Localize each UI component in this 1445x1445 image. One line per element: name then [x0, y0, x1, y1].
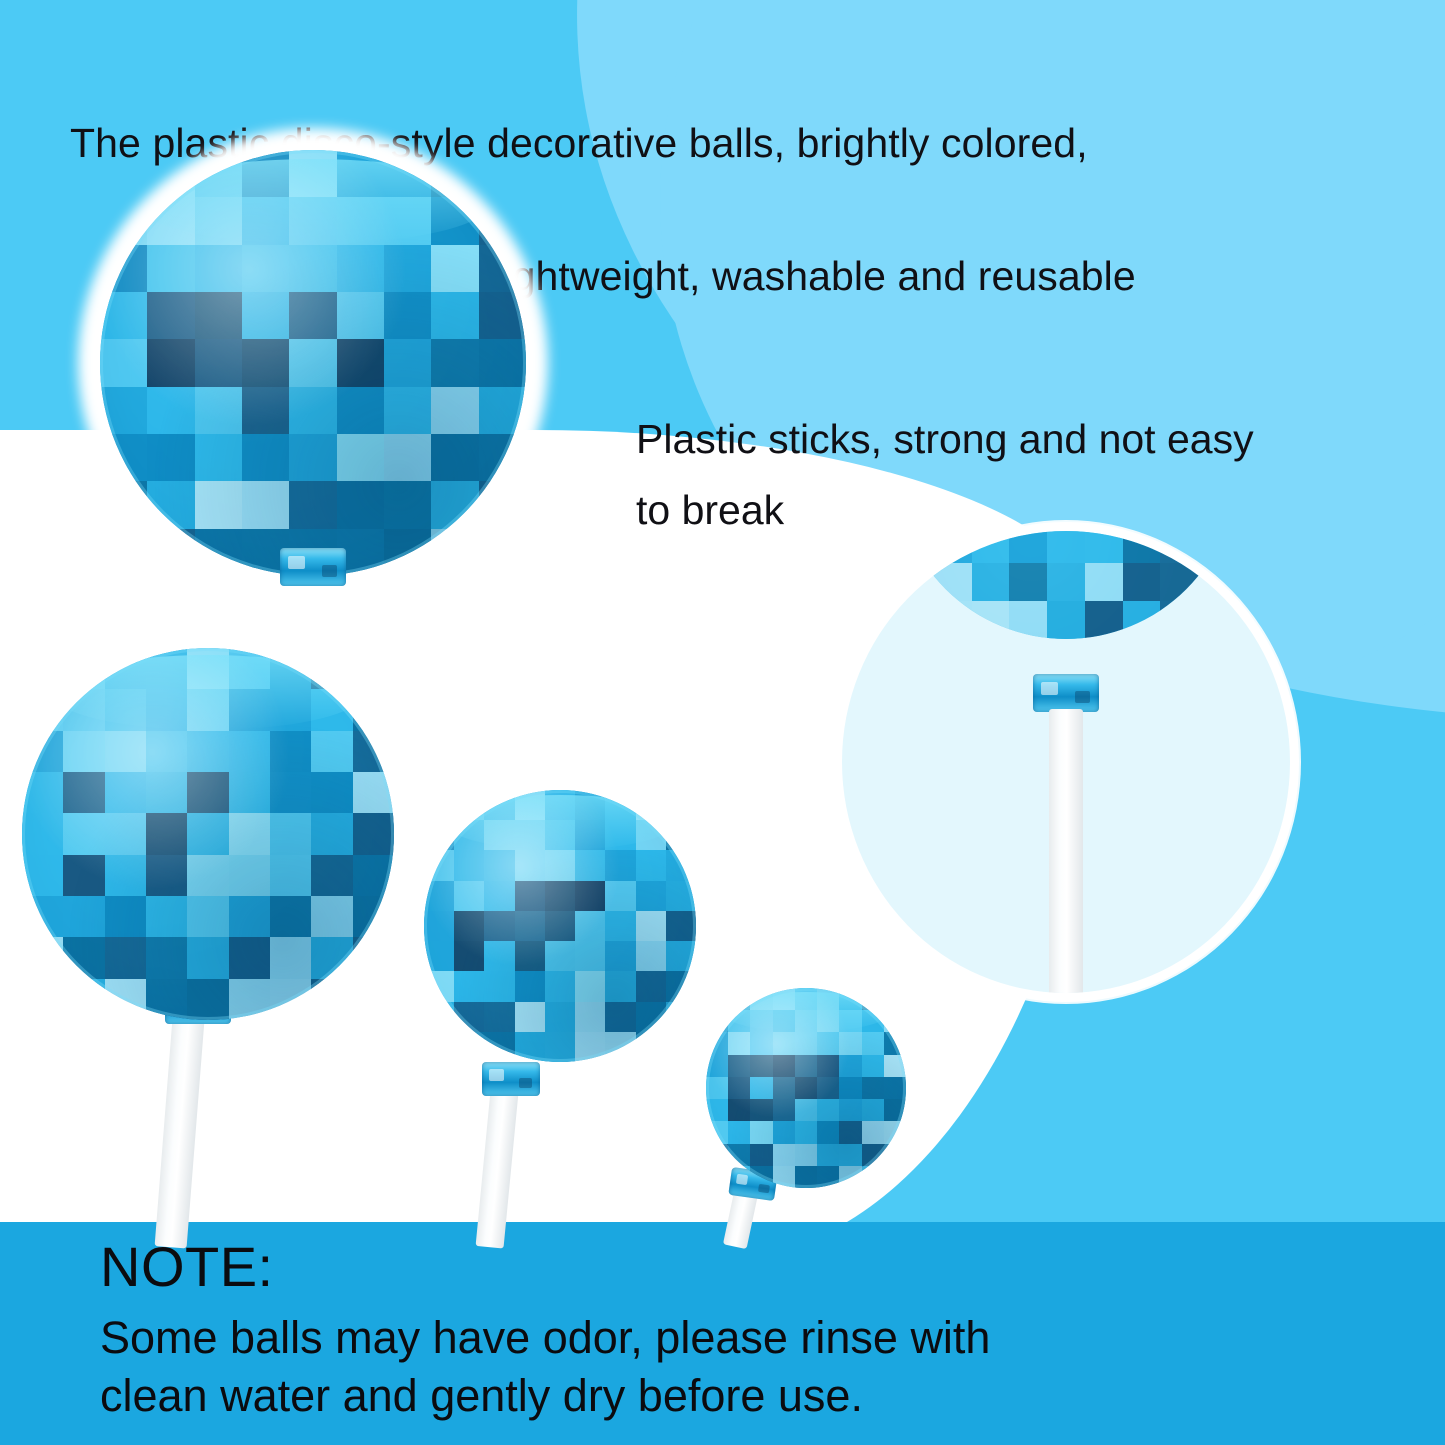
ball-extra-large-group	[78, 128, 548, 598]
disco-ball-icon	[706, 988, 906, 1188]
note-title: NOTE:	[100, 1238, 1360, 1295]
note-body: Some balls may have odor, please rinse w…	[100, 1309, 1360, 1424]
ball-rim-shading	[100, 150, 526, 576]
plastic-collar-icon	[280, 548, 346, 586]
disco-ball-icon	[424, 790, 696, 1062]
plastic-collar-icon	[1033, 674, 1099, 712]
plastic-stick-icon	[155, 999, 206, 1249]
ball-large-group	[22, 648, 422, 1238]
ball-bottom-dome	[896, 522, 1236, 639]
plastic-collar-icon	[482, 1062, 540, 1096]
ball-facets	[896, 522, 1236, 639]
product-infographic: The plastic disco-style decorative balls…	[0, 0, 1445, 1445]
note-line-2: clean water and gently dry before use.	[100, 1367, 1360, 1425]
note-line-1: Some balls may have odor, please rinse w…	[100, 1309, 1360, 1367]
stick-callout-line-1: Plastic sticks, strong and not easy	[636, 404, 1436, 475]
disco-ball-icon	[100, 150, 526, 576]
ball-medium-group	[424, 790, 724, 1240]
ball-rim-shading	[424, 790, 696, 1062]
plastic-stick-icon	[1049, 709, 1083, 1002]
plastic-stick-icon	[476, 1075, 520, 1249]
note-block: NOTE: Some balls may have odor, please r…	[100, 1238, 1360, 1424]
ball-rim-shading	[706, 988, 906, 1188]
ball-rim-shading	[22, 648, 394, 1020]
disco-ball-icon	[22, 648, 394, 1020]
magnified-detail-circle-icon	[833, 522, 1299, 1002]
ball-small-group	[706, 988, 956, 1248]
